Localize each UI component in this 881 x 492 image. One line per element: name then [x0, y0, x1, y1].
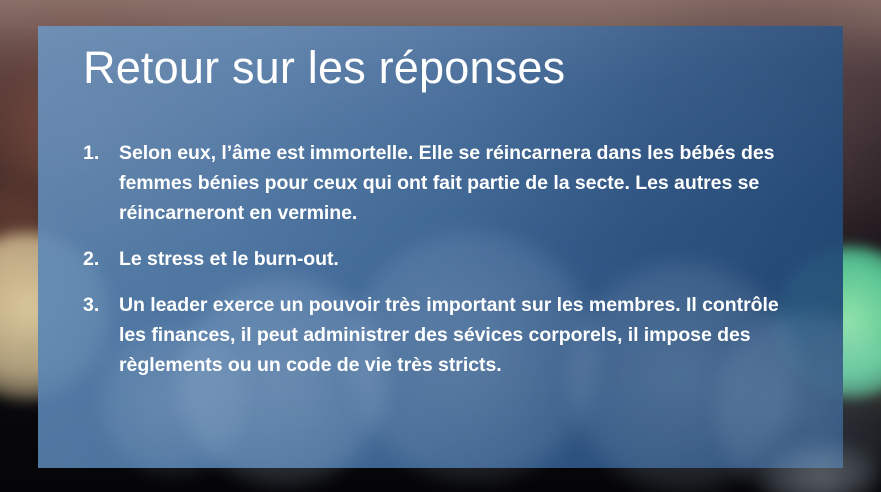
list-item-text: Selon eux, l’âme est immortelle. Elle se…: [119, 138, 808, 228]
numbered-list: 1. Selon eux, l’âme est immortelle. Elle…: [83, 138, 808, 380]
list-item: 2. Le stress et le burn-out.: [83, 244, 808, 274]
slide-canvas: Retour sur les réponses 1. Selon eux, l’…: [0, 0, 881, 492]
content-panel: Retour sur les réponses 1. Selon eux, l’…: [38, 26, 843, 468]
list-item-marker: 2.: [83, 244, 119, 274]
list-item-marker: 1.: [83, 138, 119, 168]
list-item-text: Un leader exerce un pouvoir très importa…: [119, 290, 808, 380]
slide-title: Retour sur les réponses: [83, 43, 565, 93]
list-item: 3. Un leader exerce un pouvoir très impo…: [83, 290, 808, 380]
list-item-text: Le stress et le burn-out.: [119, 244, 808, 274]
list-item-marker: 3.: [83, 290, 119, 320]
list-item: 1. Selon eux, l’âme est immortelle. Elle…: [83, 138, 808, 228]
